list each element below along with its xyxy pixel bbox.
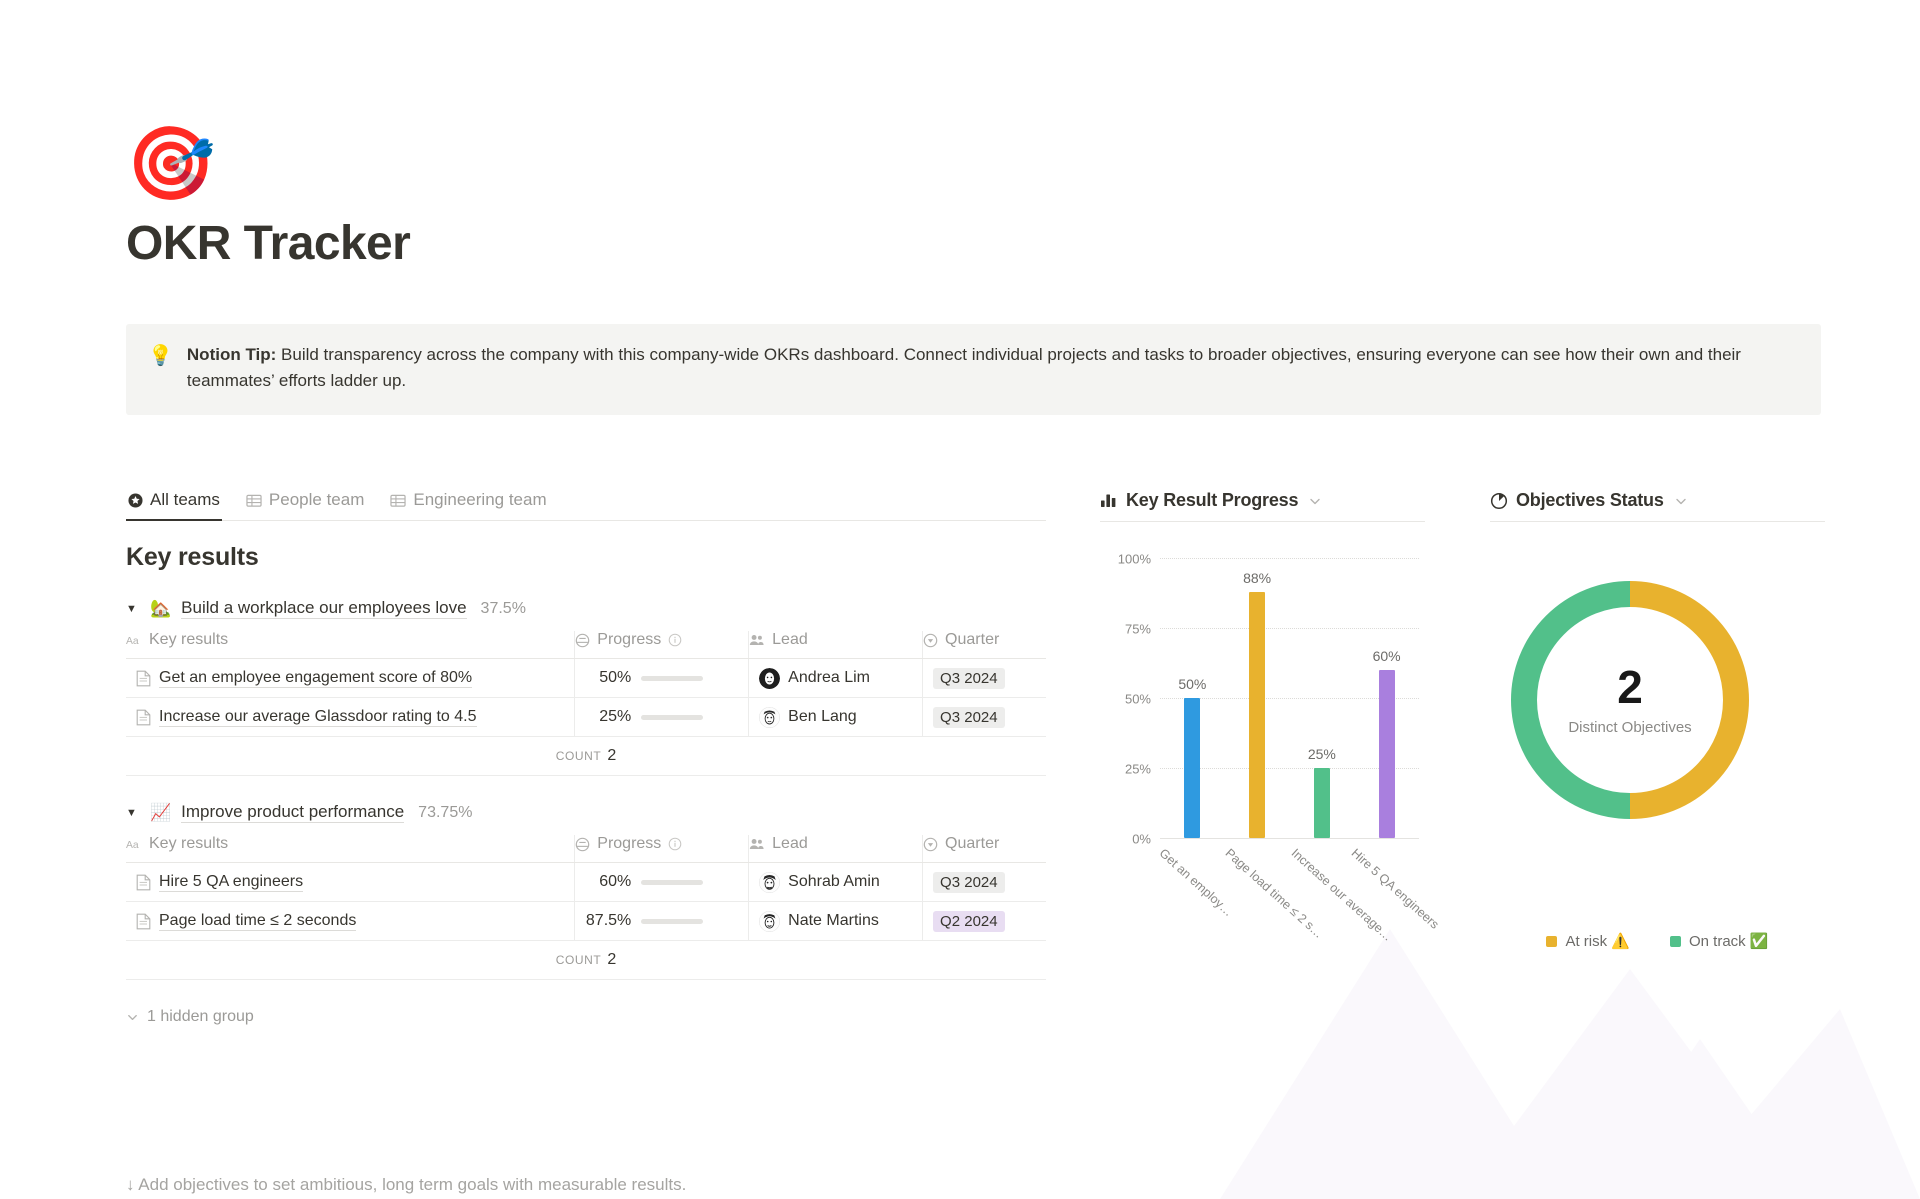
- legend-item-on-track[interactable]: On track ✅: [1670, 932, 1769, 950]
- tab-all-teams[interactable]: All teams: [126, 490, 222, 521]
- y-tick: 0%: [1132, 832, 1151, 847]
- page-title: OKR Tracker: [126, 218, 410, 271]
- y-tick: 50%: [1125, 692, 1151, 707]
- progress-icon: [575, 837, 590, 852]
- star-circle-icon: [128, 493, 143, 508]
- key-results-table: Aa Key results: [126, 835, 1046, 980]
- bar-column[interactable]: 50%: [1184, 558, 1200, 838]
- table-row[interactable]: Hire 5 QA engineers 60%: [126, 863, 1046, 902]
- y-tick: 25%: [1125, 762, 1151, 777]
- tab-people-team-label: People team: [269, 490, 364, 510]
- row-quarter-cell[interactable]: Q2 2024: [923, 902, 1046, 941]
- avatar: [759, 707, 780, 728]
- lead-name: Andrea Lim: [788, 669, 870, 687]
- table-row[interactable]: Page load time ≤ 2 seconds 87.5%: [126, 902, 1046, 941]
- col-key-results[interactable]: Aa Key results: [126, 631, 575, 659]
- progress-bar: [641, 919, 703, 924]
- row-quarter-cell[interactable]: Q3 2024: [923, 659, 1046, 698]
- add-objectives-hint[interactable]: ↓ Add objectives to set ambitious, long …: [126, 1175, 686, 1195]
- callout-body: Build transparency across the company wi…: [187, 345, 1741, 390]
- progress-icon: [575, 633, 590, 648]
- callout-lead: Notion Tip:: [187, 345, 276, 364]
- bar-column[interactable]: 88%: [1249, 558, 1265, 838]
- row-name-cell[interactable]: Hire 5 QA engineers: [126, 863, 575, 902]
- key-result-title[interactable]: Hire 5 QA engineers: [159, 873, 303, 892]
- aa-icon: Aa: [126, 838, 142, 850]
- bar-get-an-employee[interactable]: 50%: [1184, 698, 1200, 838]
- donut-center: 2 Distinct Objectives: [1510, 580, 1750, 820]
- row-name-cell[interactable]: Page load time ≤ 2 seconds: [126, 902, 575, 941]
- page-icon: [136, 913, 151, 930]
- table-header-row: Aa Key results: [126, 835, 1046, 863]
- progress-bar: [641, 676, 703, 681]
- row-progress-cell[interactable]: 25%: [575, 698, 749, 737]
- group-percent: 73.75%: [418, 804, 472, 822]
- bar-page-load-time[interactable]: 88%: [1249, 592, 1265, 838]
- legend-swatch-at-risk: [1546, 936, 1557, 947]
- notion-tip-callout: 💡 Notion Tip: Build transparency across …: [126, 324, 1821, 415]
- caret-down-icon[interactable]: ▼: [126, 603, 140, 615]
- row-progress-cell[interactable]: 60%: [575, 863, 749, 902]
- donut-center-value: 2: [1617, 664, 1643, 710]
- lead-name: Ben Lang: [788, 708, 857, 726]
- chevron-down-icon[interactable]: [1674, 494, 1688, 508]
- group-count-cell: COUNT2: [126, 941, 1046, 980]
- legend-label-at-risk: At risk ⚠️: [1565, 932, 1630, 950]
- row-name-cell[interactable]: Get an employee engagement score of 80%: [126, 659, 575, 698]
- key-result-progress-panel: Key Result Progress 100% 75% 50% 25% 0% …: [1100, 490, 1425, 968]
- page-hero: 🎯 OKR Tracker: [126, 128, 410, 271]
- legend-label-on-track: On track ✅: [1689, 932, 1769, 950]
- bar-chart-icon: [1100, 492, 1118, 509]
- quarter-badge: Q2 2024: [933, 911, 1005, 932]
- legend-item-at-risk[interactable]: At risk ⚠️: [1546, 932, 1630, 950]
- count-value: 2: [607, 951, 616, 968]
- legend-swatch-on-track: [1670, 936, 1681, 947]
- group-count-row: COUNT2: [126, 941, 1046, 980]
- svg-text:Aa: Aa: [126, 636, 139, 646]
- objectives-status-panel: Objectives Status 2 Distinct Objectives …: [1490, 490, 1825, 962]
- progress-value: 50%: [585, 669, 631, 687]
- key-results-column: All teams People team Engineerin: [126, 490, 1046, 1026]
- pie-chart-icon: [1490, 492, 1508, 510]
- row-name-cell[interactable]: Increase our average Glassdoor rating to…: [126, 698, 575, 737]
- col-key-results-label: Key results: [149, 631, 228, 649]
- lightbulb-icon: 💡: [148, 342, 173, 371]
- page-icon: [136, 874, 151, 891]
- col-key-results-label: Key results: [149, 835, 228, 853]
- col-progress[interactable]: Progress: [575, 631, 749, 659]
- page-icon: [136, 709, 151, 726]
- progress-bar: [641, 880, 703, 885]
- group-name[interactable]: Build a workplace our employees love: [181, 598, 466, 619]
- lead-name: Nate Martins: [788, 912, 879, 930]
- group-count-row: COUNT2: [126, 737, 1046, 776]
- select-icon: [923, 837, 938, 852]
- info-icon[interactable]: [668, 633, 682, 647]
- progress-value: 87.5%: [585, 912, 631, 930]
- avatar: [759, 668, 780, 689]
- col-lead[interactable]: Lead: [749, 631, 923, 659]
- progress-value: 60%: [585, 873, 631, 891]
- house-icon: 🏡: [150, 599, 171, 619]
- col-quarter[interactable]: Quarter: [923, 631, 1046, 659]
- col-lead-label: Lead: [772, 631, 808, 649]
- bar-value-label: 88%: [1243, 570, 1271, 586]
- page-icon: [136, 670, 151, 687]
- bar-hire-5-qa-engineers[interactable]: 60%: [1379, 670, 1395, 838]
- tab-engineering-team-label: Engineering team: [413, 490, 546, 510]
- table-icon: [246, 493, 262, 508]
- quarter-badge: Q3 2024: [933, 872, 1005, 893]
- tab-engineering-team[interactable]: Engineering team: [388, 490, 548, 521]
- chevron-down-icon[interactable]: [1308, 494, 1322, 508]
- table-row[interactable]: Increase our average Glassdoor rating to…: [126, 698, 1046, 737]
- col-quarter-label: Quarter: [945, 631, 999, 649]
- aa-icon: Aa: [126, 634, 142, 646]
- target-icon: 🎯: [126, 128, 410, 200]
- avatar: [759, 911, 780, 932]
- count-label: COUNT: [556, 953, 602, 967]
- col-lead[interactable]: Lead: [749, 835, 923, 863]
- bar-increase-our-average[interactable]: 25%: [1314, 768, 1330, 838]
- bar-series: 50% 88% 25% 60: [1160, 558, 1419, 838]
- bar-chart-plot: 100% 75% 50% 25% 0% 50% 88%: [1160, 558, 1419, 838]
- people-icon: [749, 633, 765, 647]
- row-lead-cell[interactable]: Sohrab Amin: [749, 863, 923, 902]
- avatar: [759, 872, 780, 893]
- row-progress-cell[interactable]: 87.5%: [575, 902, 749, 941]
- row-quarter-cell[interactable]: Q3 2024: [923, 863, 1046, 902]
- y-tick: 100%: [1118, 552, 1151, 567]
- tab-all-teams-label: All teams: [150, 490, 220, 510]
- quarter-badge: Q3 2024: [933, 668, 1005, 689]
- col-progress-label: Progress: [597, 631, 661, 649]
- hidden-group-label: 1 hidden group: [147, 1008, 254, 1026]
- bar-panel-title: Key Result Progress: [1126, 490, 1298, 511]
- quarter-badge: Q3 2024: [933, 707, 1005, 728]
- objective-group: ▼ 📈 Improve product performance 73.75% A…: [126, 802, 1046, 980]
- key-results-table: Aa Key results: [126, 631, 1046, 776]
- objectives-status-chart: 2 Distinct Objectives At risk ⚠️ On trac…: [1490, 532, 1825, 962]
- col-quarter[interactable]: Quarter: [923, 835, 1046, 863]
- people-icon: [749, 837, 765, 851]
- callout-text: Notion Tip: Build transparency across th…: [187, 342, 1797, 395]
- col-progress-label: Progress: [597, 835, 661, 853]
- key-result-title[interactable]: Get an employee engagement score of 80%: [159, 669, 472, 688]
- bar-column[interactable]: 60%: [1379, 558, 1395, 838]
- select-icon: [923, 633, 938, 648]
- bar-panel-header[interactable]: Key Result Progress: [1100, 490, 1425, 522]
- row-lead-cell[interactable]: Andrea Lim: [749, 659, 923, 698]
- section-title: Key results: [126, 543, 1046, 572]
- group-count-cell: COUNT2: [126, 737, 1046, 776]
- group-header[interactable]: ▼ 📈 Improve product performance 73.75%: [126, 802, 1046, 823]
- hidden-group-toggle[interactable]: 1 hidden group: [126, 1008, 1046, 1026]
- tab-people-team[interactable]: People team: [244, 490, 366, 521]
- bar-column[interactable]: 25%: [1314, 558, 1330, 838]
- lead-name: Sohrab Amin: [788, 873, 880, 891]
- svg-text:Aa: Aa: [126, 840, 139, 850]
- table-icon: [390, 493, 406, 508]
- col-lead-label: Lead: [772, 835, 808, 853]
- progress-bar: [641, 715, 703, 720]
- caret-down-icon[interactable]: ▼: [126, 807, 140, 819]
- col-progress[interactable]: Progress: [575, 835, 749, 863]
- progress-value: 25%: [585, 708, 631, 726]
- chart-increasing-icon: 📈: [150, 803, 171, 823]
- group-percent: 37.5%: [481, 600, 526, 618]
- col-key-results[interactable]: Aa Key results: [126, 835, 575, 863]
- team-tabs: All teams People team Engineerin: [126, 490, 1046, 521]
- count-label: COUNT: [556, 749, 602, 763]
- donut-panel-title: Objectives Status: [1516, 490, 1664, 511]
- chevron-down-icon: [126, 1011, 139, 1024]
- bar-value-label: 50%: [1178, 676, 1206, 692]
- donut-panel-header[interactable]: Objectives Status: [1490, 490, 1825, 522]
- bar-chart-x-axis: Get an employ… Page load time ≤ 2 s… Inc…: [1160, 840, 1419, 968]
- donut-legend: At risk ⚠️ On track ✅: [1490, 932, 1825, 950]
- y-tick: 75%: [1125, 622, 1151, 637]
- group-name[interactable]: Improve product performance: [181, 802, 404, 823]
- row-lead-cell[interactable]: Nate Martins: [749, 902, 923, 941]
- col-quarter-label: Quarter: [945, 835, 999, 853]
- table-row[interactable]: Get an employee engagement score of 80% …: [126, 659, 1046, 698]
- table-header-row: Aa Key results: [126, 631, 1046, 659]
- key-result-progress-chart: 100% 75% 50% 25% 0% 50% 88%: [1100, 548, 1425, 968]
- bar-value-label: 25%: [1308, 746, 1336, 762]
- row-progress-cell[interactable]: 50%: [575, 659, 749, 698]
- objective-group: ▼ 🏡 Build a workplace our employees love…: [126, 598, 1046, 776]
- donut-center-label: Distinct Objectives: [1568, 719, 1691, 736]
- key-result-title[interactable]: Increase our average Glassdoor rating to…: [159, 708, 477, 727]
- row-quarter-cell[interactable]: Q3 2024: [923, 698, 1046, 737]
- row-lead-cell[interactable]: Ben Lang: [749, 698, 923, 737]
- count-value: 2: [607, 747, 616, 764]
- info-icon[interactable]: [668, 837, 682, 851]
- key-result-title[interactable]: Page load time ≤ 2 seconds: [159, 912, 356, 931]
- group-header[interactable]: ▼ 🏡 Build a workplace our employees love…: [126, 598, 1046, 619]
- bar-value-label: 60%: [1373, 648, 1401, 664]
